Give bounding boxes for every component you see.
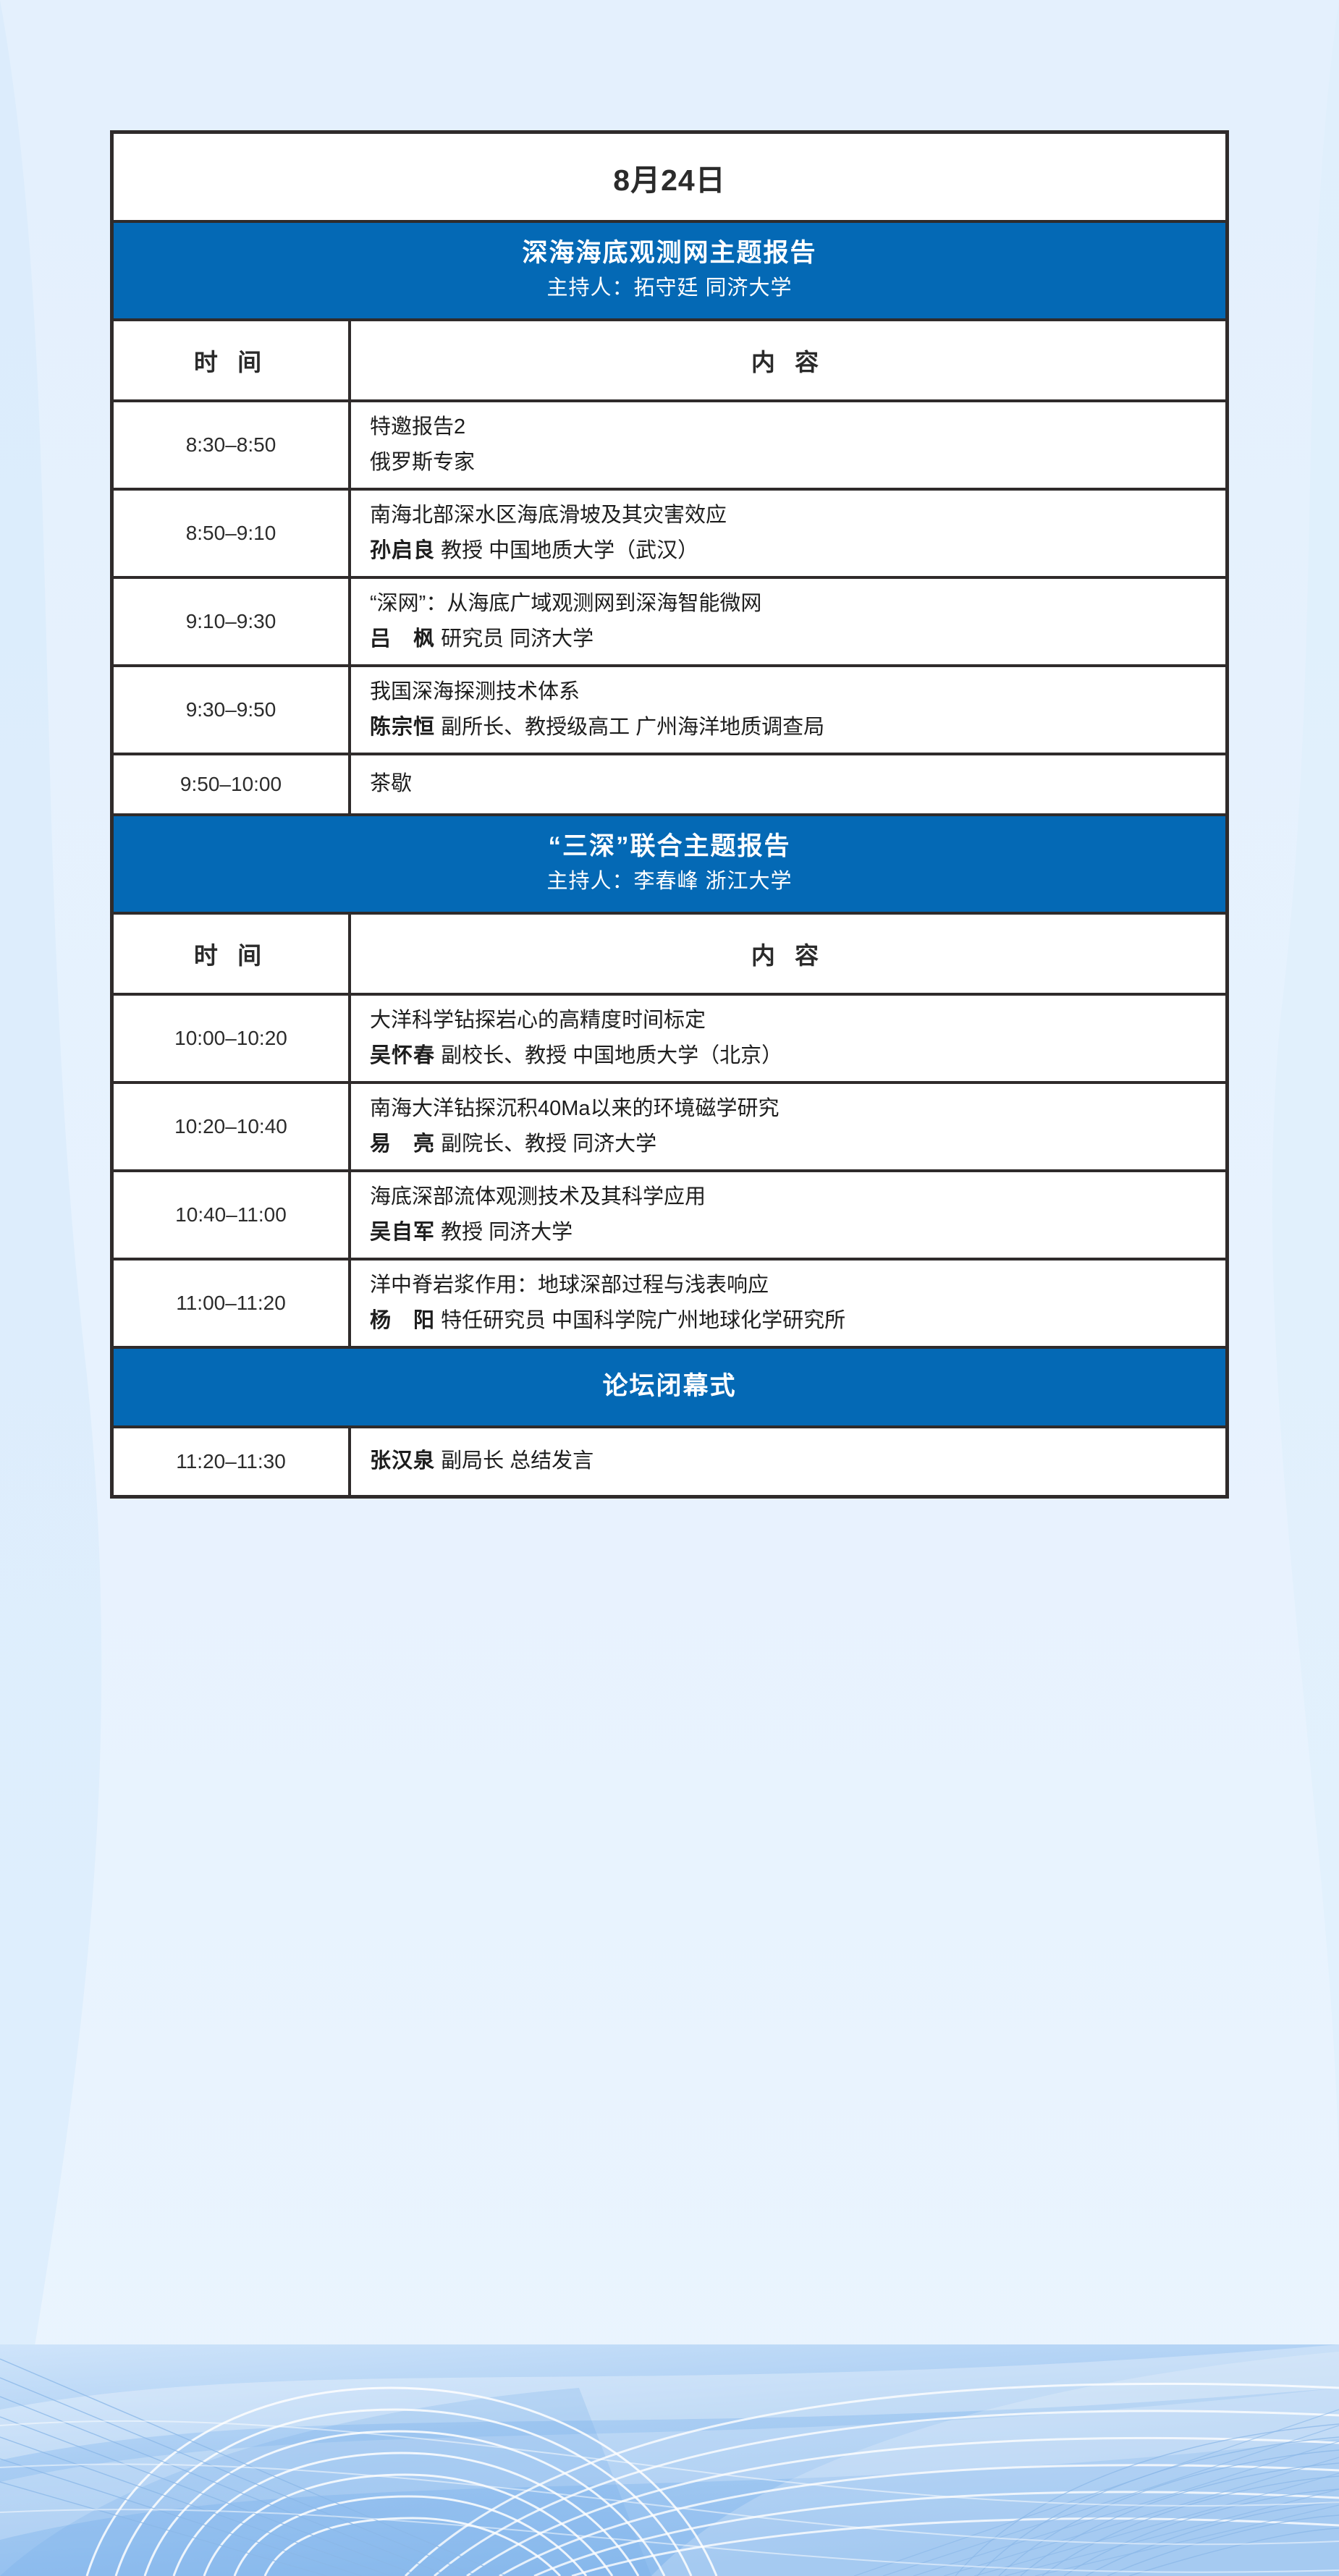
row-time-cell: 8:50–9:10 xyxy=(114,491,351,576)
speaker-name: 吕 枫 xyxy=(370,627,435,651)
column-header-time: 时 间 xyxy=(194,343,268,378)
talk-title: 大洋科学钻探岩心的高精度时间标定 xyxy=(370,1007,1225,1035)
speaker-affiliation: 副校长、教授 中国地质大学（北京） xyxy=(435,1044,782,1067)
table-row: 11:20–11:30 张汉泉 副局长 总结发言 xyxy=(114,1428,1225,1495)
row-time: 11:20–11:30 xyxy=(176,1450,286,1473)
date-banner-row: 8月24日 xyxy=(114,134,1225,223)
speaker-affiliation: 副所长、教授级高工 广州海洋地质调查局 xyxy=(435,716,824,739)
talk-speaker: 孙启良 教授 中国地质大学（武汉） xyxy=(370,537,1225,565)
talk-speaker: 易 亮 副院长、教授 同济大学 xyxy=(370,1130,1225,1158)
talk-title: 海底深部流体观测技术及其科学应用 xyxy=(370,1183,1225,1211)
table-row: 10:40–11:00 海底深部流体观测技术及其科学应用 吴自军 教授 同济大学 xyxy=(114,1172,1225,1261)
row-time: 10:00–10:20 xyxy=(174,1027,287,1050)
section-header-closing: 论坛闭幕式 xyxy=(114,1349,1225,1428)
row-content-cell: “深网”：从海底广域观测网到深海智能微网 吕 枫 研究员 同济大学 xyxy=(351,579,1225,664)
speaker-affiliation: 教授 中国地质大学（武汉） xyxy=(435,539,698,562)
section-header-1: 深海海底观测网主题报告 主持人：拓守廷 同济大学 xyxy=(114,223,1225,321)
talk-title: 洋中脊岩浆作用：地球深部过程与浅表响应 xyxy=(370,1271,1225,1300)
speaker-name: 吴怀春 xyxy=(370,1044,435,1067)
row-time: 8:30–8:50 xyxy=(186,433,276,457)
talk-speaker: 张汉泉 副局长 总结发言 xyxy=(370,1447,1225,1475)
section-host: 主持人：李春峰 浙江大学 xyxy=(546,868,792,894)
row-time: 10:40–11:00 xyxy=(175,1203,287,1226)
row-time: 9:30–9:50 xyxy=(186,698,276,721)
row-time-cell: 11:20–11:30 xyxy=(114,1428,351,1495)
row-time: 8:50–9:10 xyxy=(186,522,276,545)
table-row: 9:10–9:30 “深网”：从海底广域观测网到深海智能微网 吕 枫 研究员 同… xyxy=(114,579,1225,667)
date-cell: 8月24日 xyxy=(114,134,1225,220)
table-row: 11:00–11:20 洋中脊岩浆作用：地球深部过程与浅表响应 杨 阳 特任研究… xyxy=(114,1261,1225,1349)
table-row: 9:30–9:50 我国深海探测技术体系 陈宗恒 副所长、教授级高工 广州海洋地… xyxy=(114,667,1225,755)
section-header-cell: “三深”联合主题报告 主持人：李春峰 浙江大学 xyxy=(114,816,1225,912)
row-time: 9:10–9:30 xyxy=(186,610,276,633)
break-label: 茶歇 xyxy=(370,770,1225,798)
section-title: “三深”联合主题报告 xyxy=(548,831,790,863)
table-row: 10:00–10:20 大洋科学钻探岩心的高精度时间标定 吴怀春 副校长、教授 … xyxy=(114,996,1225,1084)
speaker-affiliation: 研究员 同济大学 xyxy=(435,627,594,651)
row-time: 10:20–10:40 xyxy=(174,1115,287,1138)
speaker-name: 张汉泉 xyxy=(370,1449,435,1473)
row-content-cell: 大洋科学钻探岩心的高精度时间标定 吴怀春 副校长、教授 中国地质大学（北京） xyxy=(351,996,1225,1081)
speaker-affiliation: 副院长、教授 同济大学 xyxy=(435,1132,656,1156)
speaker-role: 副局长 总结发言 xyxy=(435,1449,594,1473)
row-time-cell: 10:40–11:00 xyxy=(114,1172,351,1258)
section-header-cell: 论坛闭幕式 xyxy=(114,1349,1225,1425)
row-content-cell: 洋中脊岩浆作用：地球深部过程与浅表响应 杨 阳 特任研究员 中国科学院广州地球化… xyxy=(351,1261,1225,1346)
row-time: 9:50–10:00 xyxy=(180,773,282,796)
speaker-affiliation: 教授 同济大学 xyxy=(435,1221,573,1244)
section-title: 深海海底观测网主题报告 xyxy=(522,237,816,269)
column-header-time-cell: 时 间 xyxy=(114,321,351,399)
row-content-cell: 海底深部流体观测技术及其科学应用 吴自军 教授 同济大学 xyxy=(351,1172,1225,1258)
table-row: 9:50–10:00 茶歇 xyxy=(114,755,1225,816)
section-title: 论坛闭幕式 xyxy=(602,1370,736,1402)
speaker-affiliation: 特任研究员 中国科学院广州地球化学研究所 xyxy=(435,1309,845,1332)
row-time-cell: 9:50–10:00 xyxy=(114,755,351,813)
row-time: 11:00–11:20 xyxy=(176,1292,286,1315)
column-header-time-cell: 时 间 xyxy=(114,915,351,993)
column-header-content-cell: 内 容 xyxy=(351,321,1225,399)
date-label: 8月24日 xyxy=(613,156,725,199)
row-content-cell: 茶歇 xyxy=(351,755,1225,813)
talk-speaker: 陈宗恒 副所长、教授级高工 广州海洋地质调查局 xyxy=(370,713,1225,742)
row-content-cell: 南海大洋钻探沉积40Ma以来的环境磁学研究 易 亮 副院长、教授 同济大学 xyxy=(351,1084,1225,1169)
column-header-row-2: 时 间 内 容 xyxy=(114,915,1225,996)
talk-speaker: 吴怀春 副校长、教授 中国地质大学（北京） xyxy=(370,1042,1225,1070)
speaker-name: 吴自军 xyxy=(370,1221,435,1244)
row-time-cell: 10:00–10:20 xyxy=(114,996,351,1081)
talk-speaker: 吕 枫 研究员 同济大学 xyxy=(370,625,1225,653)
row-time-cell: 10:20–10:40 xyxy=(114,1084,351,1169)
talk-title: 特邀报告2 xyxy=(370,413,1225,441)
talk-title: 我国深海探测技术体系 xyxy=(370,678,1225,706)
talk-speaker: 杨 阳 特任研究员 中国科学院广州地球化学研究所 xyxy=(370,1307,1225,1335)
schedule-table: 8月24日 深海海底观测网主题报告 主持人：拓守廷 同济大学 时 间 内 容 8… xyxy=(110,130,1229,1499)
section-host: 主持人：拓守廷 同济大学 xyxy=(546,275,792,301)
table-row: 8:50–9:10 南海北部深水区海底滑坡及其灾害效应 孙启良 教授 中国地质大… xyxy=(114,491,1225,579)
speaker-name: 孙启良 xyxy=(370,539,435,562)
row-time-cell: 11:00–11:20 xyxy=(114,1261,351,1346)
talk-title: 南海大洋钻探沉积40Ma以来的环境磁学研究 xyxy=(370,1095,1225,1123)
column-header-time: 时 间 xyxy=(194,936,268,971)
table-row: 10:20–10:40 南海大洋钻探沉积40Ma以来的环境磁学研究 易 亮 副院… xyxy=(114,1084,1225,1172)
column-header-content: 内 容 xyxy=(751,936,825,971)
talk-title: “深网”：从海底广域观测网到深海智能微网 xyxy=(370,590,1225,618)
row-content-cell: 特邀报告2 俄罗斯专家 xyxy=(351,402,1225,488)
speaker-name: 俄罗斯专家 xyxy=(370,451,475,474)
speaker-name: 易 亮 xyxy=(370,1132,435,1156)
section-header-cell: 深海海底观测网主题报告 主持人：拓守廷 同济大学 xyxy=(114,223,1225,318)
column-header-row-1: 时 间 内 容 xyxy=(114,321,1225,402)
row-time-cell: 9:10–9:30 xyxy=(114,579,351,664)
speaker-name: 陈宗恒 xyxy=(370,716,435,739)
row-content-cell: 我国深海探测技术体系 陈宗恒 副所长、教授级高工 广州海洋地质调查局 xyxy=(351,667,1225,753)
column-header-content: 内 容 xyxy=(751,343,825,378)
column-header-content-cell: 内 容 xyxy=(351,915,1225,993)
talk-speaker: 吴自军 教授 同济大学 xyxy=(370,1219,1225,1247)
row-time-cell: 8:30–8:50 xyxy=(114,402,351,488)
row-time-cell: 9:30–9:50 xyxy=(114,667,351,753)
table-row: 8:30–8:50 特邀报告2 俄罗斯专家 xyxy=(114,402,1225,491)
row-content-cell: 张汉泉 副局长 总结发言 xyxy=(351,1428,1225,1495)
talk-speaker: 俄罗斯专家 xyxy=(370,449,1225,477)
row-content-cell: 南海北部深水区海底滑坡及其灾害效应 孙启良 教授 中国地质大学（武汉） xyxy=(351,491,1225,576)
section-header-2: “三深”联合主题报告 主持人：李春峰 浙江大学 xyxy=(114,816,1225,915)
speaker-name: 杨 阳 xyxy=(370,1309,435,1332)
talk-title: 南海北部深水区海底滑坡及其灾害效应 xyxy=(370,501,1225,530)
